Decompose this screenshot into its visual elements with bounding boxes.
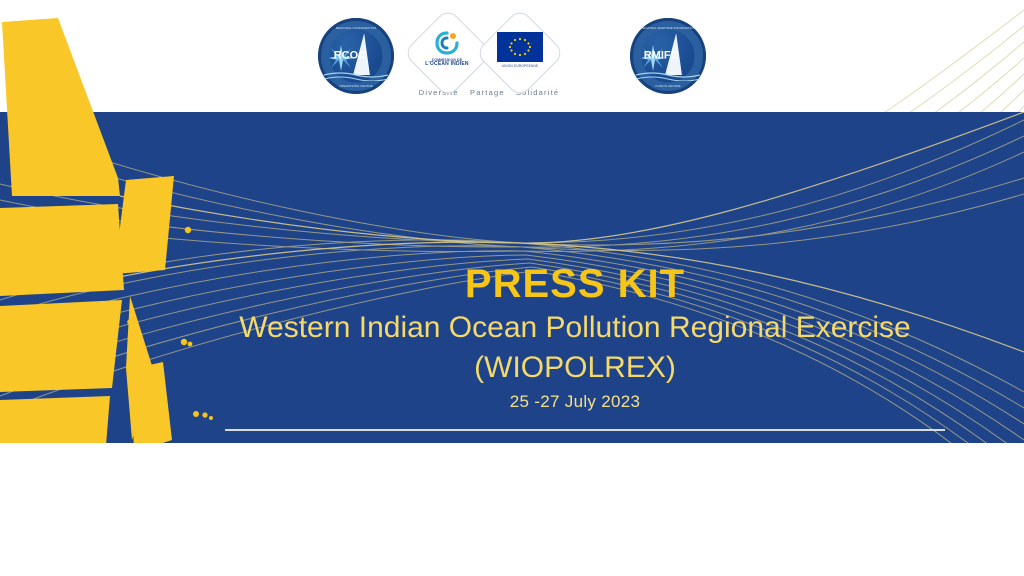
svg-text:OPERATIONS CENTRE: OPERATIONS CENTRE <box>339 84 373 88</box>
coi-swirl-icon <box>434 30 460 56</box>
rmifc-seal: REGIONAL MARITIME INFORMATION FUSION CEN… <box>630 18 706 94</box>
eu-logo: UNION EUROPEENNE <box>494 32 546 68</box>
headline-block: PRESS KIT Western Indian Ocean Pollution… <box>180 262 970 412</box>
event-dates: 25 -27 July 2023 <box>180 392 970 412</box>
svg-text:REGIONAL MARITIME INFORMATION: REGIONAL MARITIME INFORMATION <box>641 26 695 30</box>
press-kit-slide: REGIONAL COORDINATION OPERATIONS CENTRE <box>0 0 1024 576</box>
svg-text:REGIONAL COORDINATION: REGIONAL COORDINATION <box>336 26 377 30</box>
coi-caption: COMMISSION DE L'OCEAN INDIEN <box>421 58 473 66</box>
eu-flag-icon <box>497 32 543 62</box>
wave-lines <box>324 71 388 81</box>
page-title: PRESS KIT <box>180 262 970 306</box>
wave-lines <box>636 71 700 81</box>
coi-logo: COMMISSION DE L'OCEAN INDIEN <box>421 30 473 66</box>
rmifc-letters: RMIFC <box>644 51 679 62</box>
svg-text:FUSION CENTRE: FUSION CENTRE <box>655 84 680 88</box>
footer-band <box>0 443 1024 576</box>
coi-eu-logo-block: COMMISSION DE L'OCEAN INDIEN <box>394 6 584 106</box>
rcoc-letters: RCOC <box>334 51 366 62</box>
event-title-line2: (WIOPOLREX) <box>180 350 970 386</box>
partner-logo-strip: REGIONAL COORDINATION OPERATIONS CENTRE <box>0 0 1024 112</box>
coi-caption-big: L'OCEAN INDIEN <box>421 62 473 66</box>
horizontal-divider <box>225 429 945 431</box>
event-title-line1: Western Indian Ocean Pollution Regional … <box>180 310 970 346</box>
rcoc-seal: REGIONAL COORDINATION OPERATIONS CENTRE <box>318 18 394 94</box>
eu-caption: UNION EUROPEENNE <box>494 64 546 68</box>
